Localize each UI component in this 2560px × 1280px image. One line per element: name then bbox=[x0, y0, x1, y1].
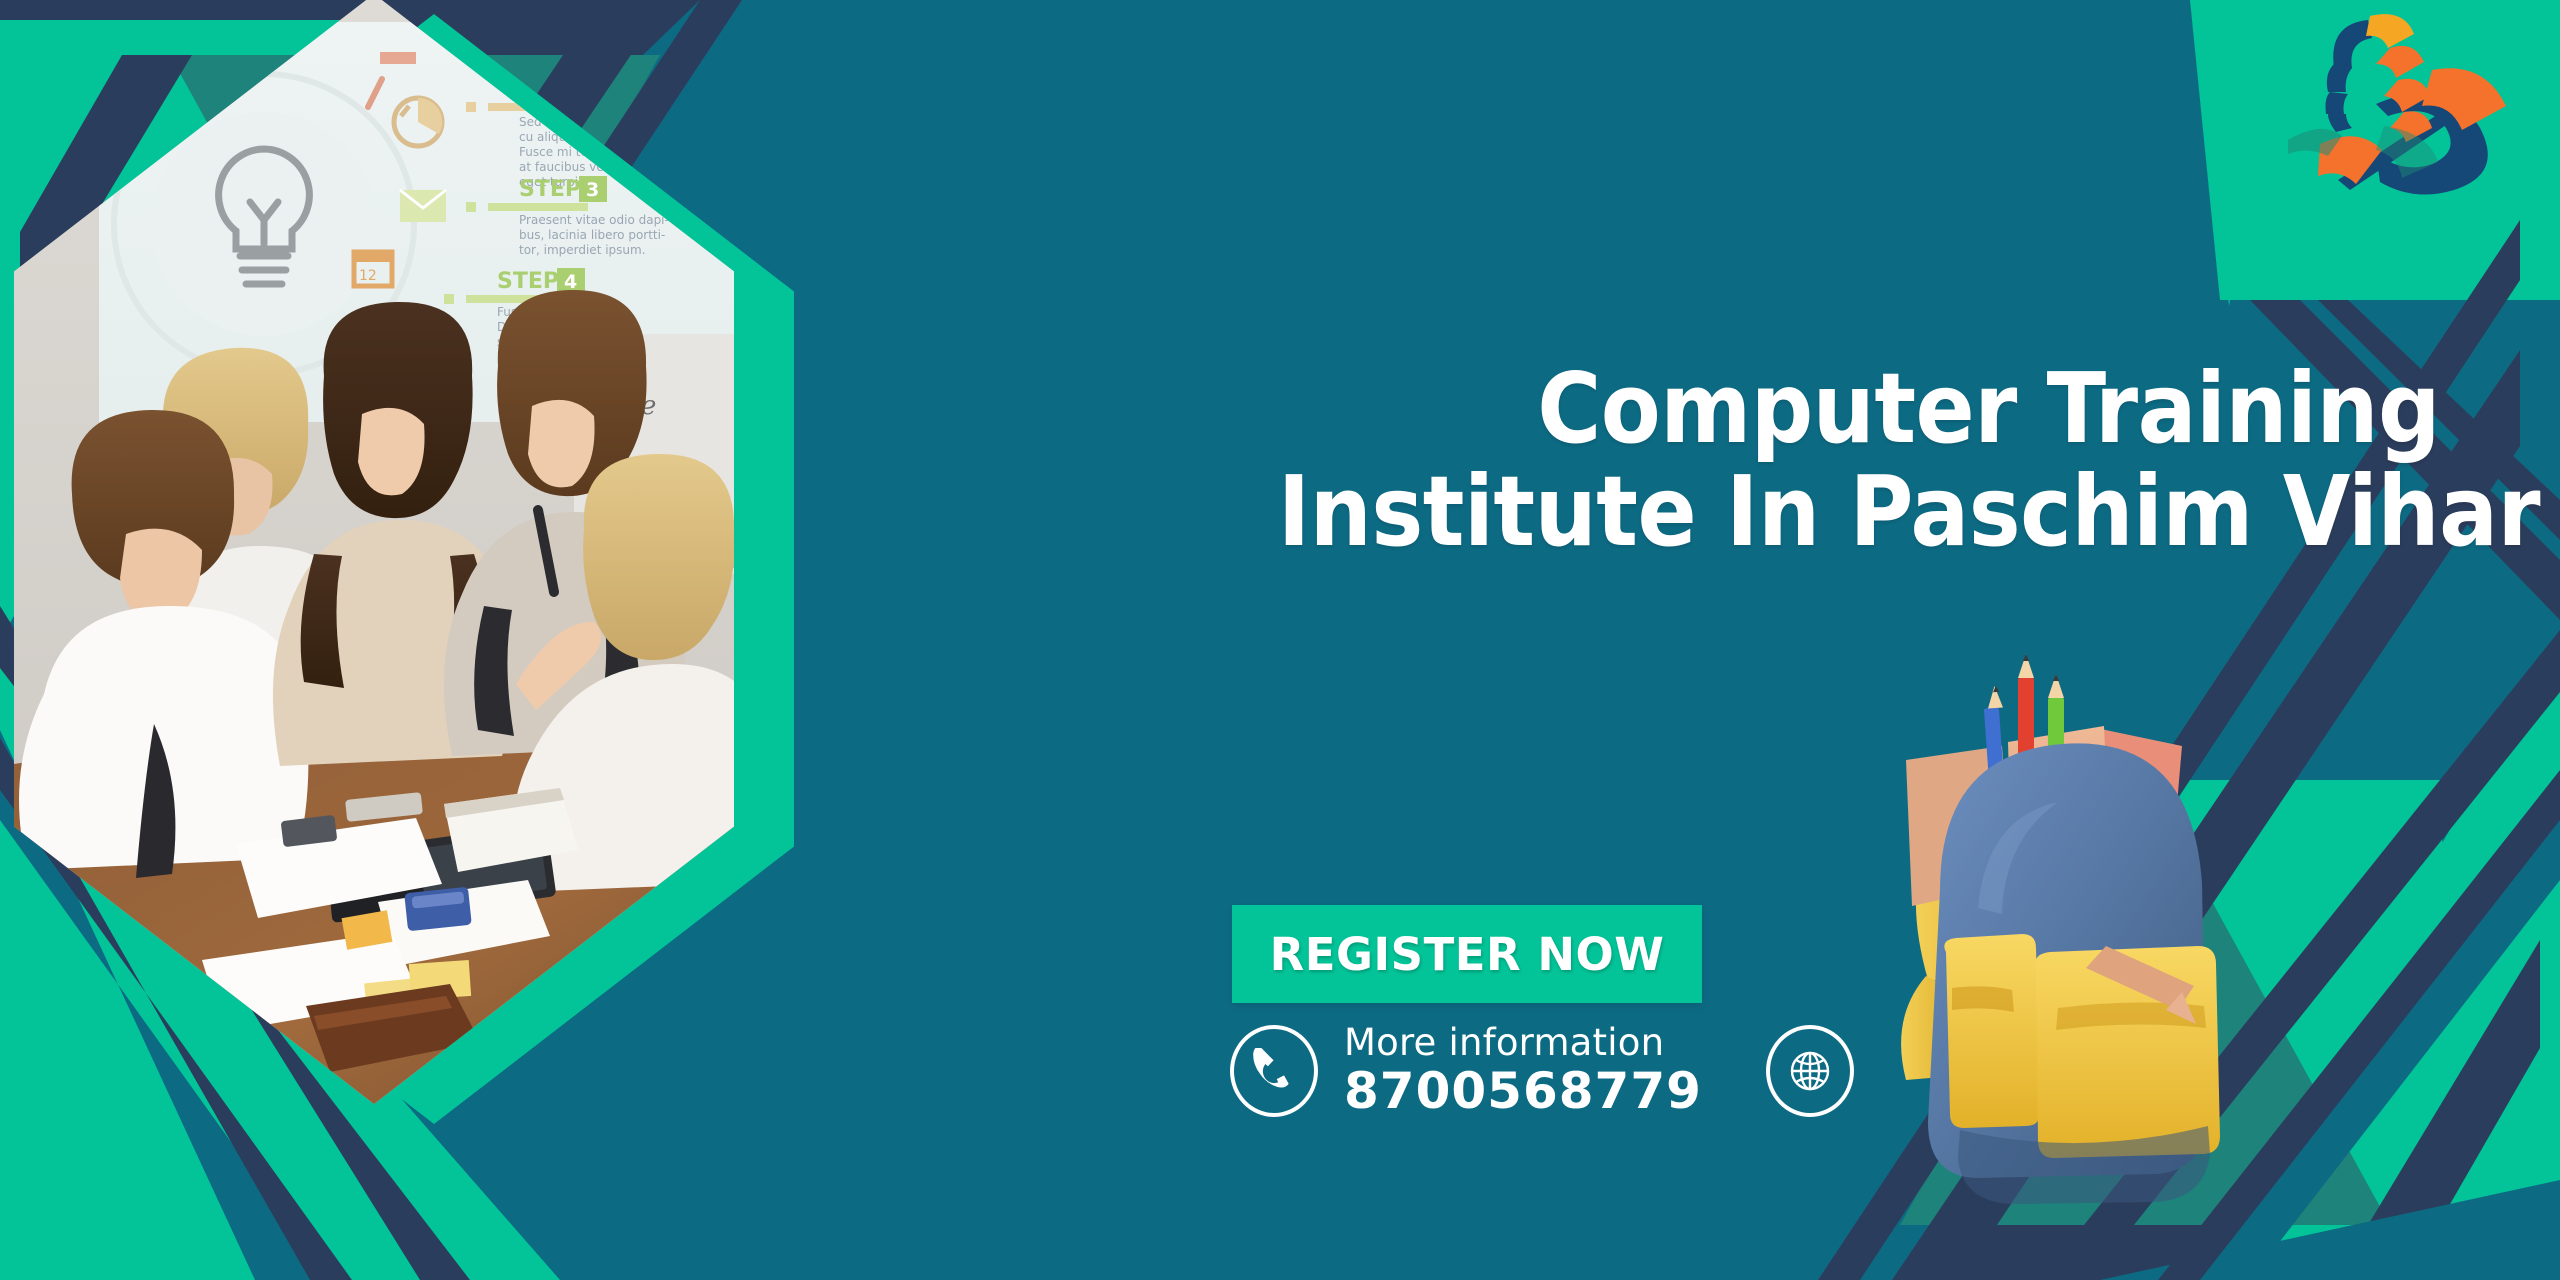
svg-text:Praesent vitae odio dapi-: Praesent vitae odio dapi- bbox=[519, 213, 669, 227]
contact-info: More information 8700568779 bbox=[1230, 1022, 1854, 1120]
svg-text:STEP: STEP bbox=[519, 177, 581, 202]
institute-logo[interactable] bbox=[2280, 8, 2530, 198]
backpack-illustration bbox=[1810, 650, 2310, 1210]
svg-text:bus, lacinia libero portti-: bus, lacinia libero portti- bbox=[519, 228, 665, 242]
page-title: Computer Training Institute In Paschim V… bbox=[1180, 358, 2550, 564]
headline-line-1: Computer Training bbox=[1180, 358, 2550, 461]
register-now-button[interactable]: REGISTER NOW bbox=[1232, 905, 1702, 1003]
headline-line-2: Institute In Paschim Vihar bbox=[1180, 461, 2550, 564]
svg-text:tor, imperdiet ipsum.: tor, imperdiet ipsum. bbox=[519, 243, 646, 257]
svg-text:3: 3 bbox=[586, 179, 599, 201]
svg-text:aliquet lorem id: aliquet lorem id bbox=[486, 45, 588, 60]
hero-photo-hexagon: 12 Aenean a aliquet lorem id egestas odi… bbox=[14, 0, 754, 1124]
register-now-label: REGISTER NOW bbox=[1270, 928, 1665, 981]
svg-text:12: 12 bbox=[359, 268, 377, 284]
svg-text:Aenean a: Aenean a bbox=[486, 27, 547, 42]
svg-text:4: 4 bbox=[564, 271, 577, 293]
contact-text-block: More information 8700568779 bbox=[1344, 1022, 1702, 1120]
more-information-label: More information bbox=[1344, 1022, 1702, 1063]
svg-text:STEP: STEP bbox=[497, 269, 559, 294]
promo-banner: 12 Aenean a aliquet lorem id egestas odi… bbox=[0, 0, 2560, 1280]
phone-icon[interactable] bbox=[1230, 1025, 1318, 1117]
phone-number: 8700568779 bbox=[1344, 1063, 1702, 1120]
